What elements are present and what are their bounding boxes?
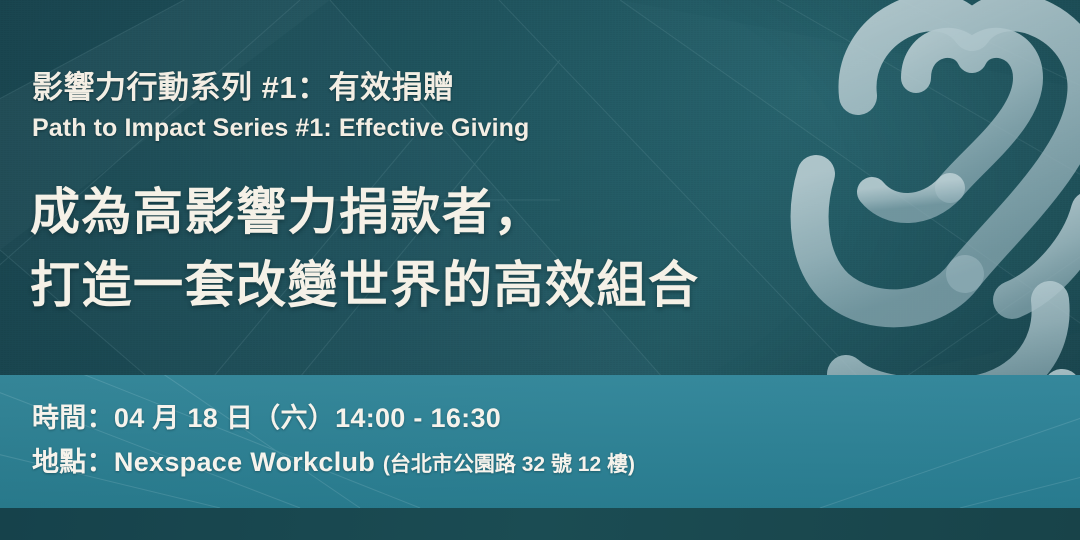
text-layer: 影響力行動系列 #1：有效捐贈 Path to Impact Series #1…: [0, 0, 1080, 540]
headline-line-2: 打造一套改變世界的高效組合: [30, 249, 700, 322]
series-kicker-chinese: 影響力行動系列 #1：有效捐贈: [32, 62, 455, 107]
event-venue-label: 地點：Nexspace Workclub: [32, 447, 375, 477]
event-time-row: 時間：04 月 18 日（六）14:00 - 16:30: [32, 396, 635, 440]
event-venue-row: 地點：Nexspace Workclub (台北市公園路 32 號 12 樓): [32, 440, 635, 487]
headline: 成為高影響力捐款者， 打造一套改變世界的高效組合: [30, 176, 700, 322]
series-kicker-english: Path to Impact Series #1: Effective Givi…: [32, 114, 529, 143]
event-details: 時間：04 月 18 日（六）14:00 - 16:30 地點：Nexspace…: [32, 396, 635, 487]
event-venue-address: (台北市公園路 32 號 12 樓): [383, 453, 635, 476]
headline-line-1: 成為高影響力捐款者，: [30, 176, 700, 249]
event-poster: 影響力行動系列 #1：有效捐贈 Path to Impact Series #1…: [0, 0, 1080, 540]
